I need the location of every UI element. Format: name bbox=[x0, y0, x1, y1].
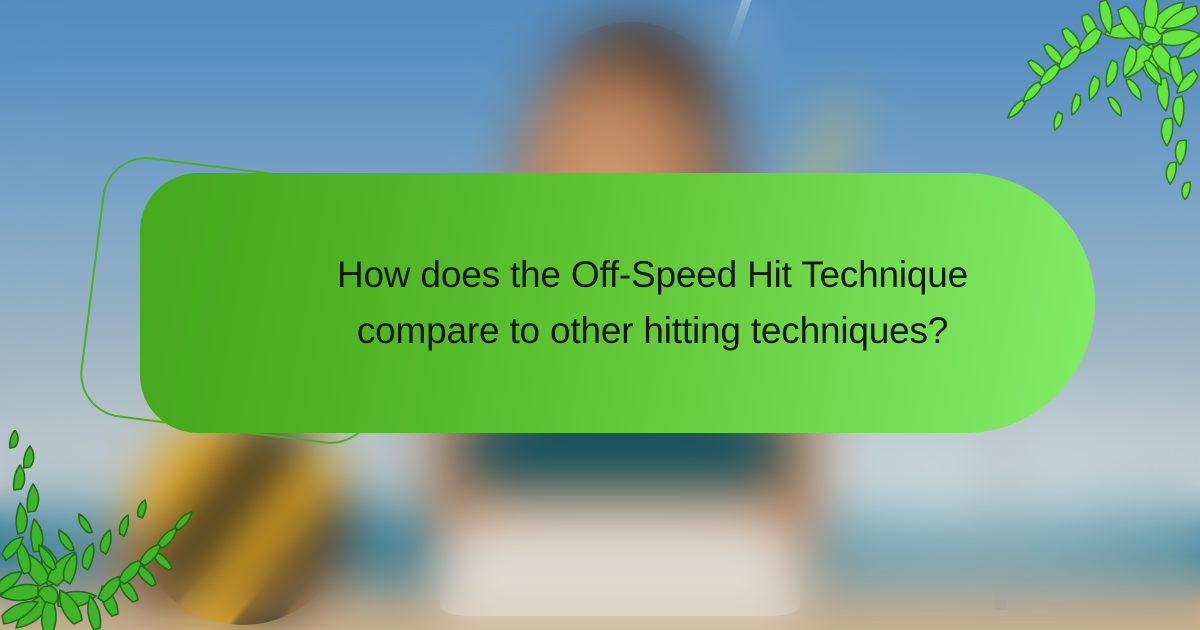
question-text: How does the Off-Speed Hit Technique com… bbox=[173, 247, 1063, 359]
question-card: How does the Off-Speed Hit Technique com… bbox=[140, 173, 1095, 433]
screenshot-canvas: How does the Off-Speed Hit Technique com… bbox=[0, 0, 1200, 630]
